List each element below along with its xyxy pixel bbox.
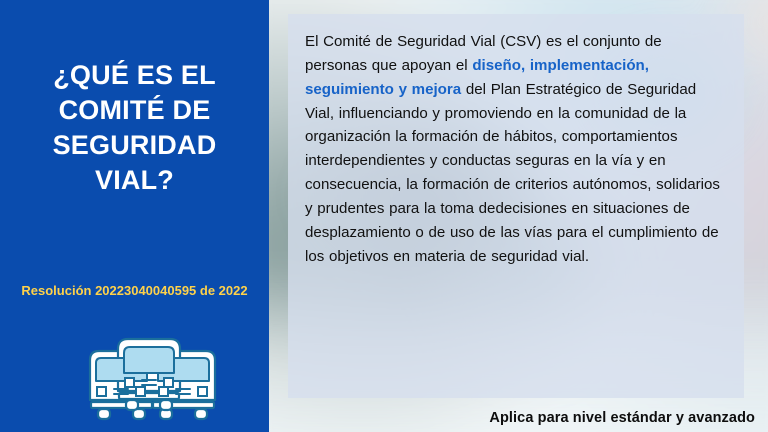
page-title: ¿QUÉ ES EL COMITÉ DE SEGURIDAD VIAL?	[14, 58, 255, 198]
definition-part-2: del Plan Estratégico de Seguridad Vial, …	[305, 81, 720, 265]
slide-canvas: ¿QUÉ ES EL COMITÉ DE SEGURIDAD VIAL? Res…	[0, 0, 768, 432]
definition-card: El Comité de Seguridad Vial (CSV) es el …	[288, 14, 744, 398]
definition-paragraph: El Comité de Seguridad Vial (CSV) es el …	[305, 30, 727, 268]
footer-note: Aplica para nivel estándar y avanzado	[489, 410, 755, 426]
resolution-reference: Resolución 20223040040595 de 2022	[18, 282, 251, 301]
three-buses-icon	[0, 334, 269, 422]
left-blue-panel: ¿QUÉ ES EL COMITÉ DE SEGURIDAD VIAL? Res…	[0, 0, 269, 432]
